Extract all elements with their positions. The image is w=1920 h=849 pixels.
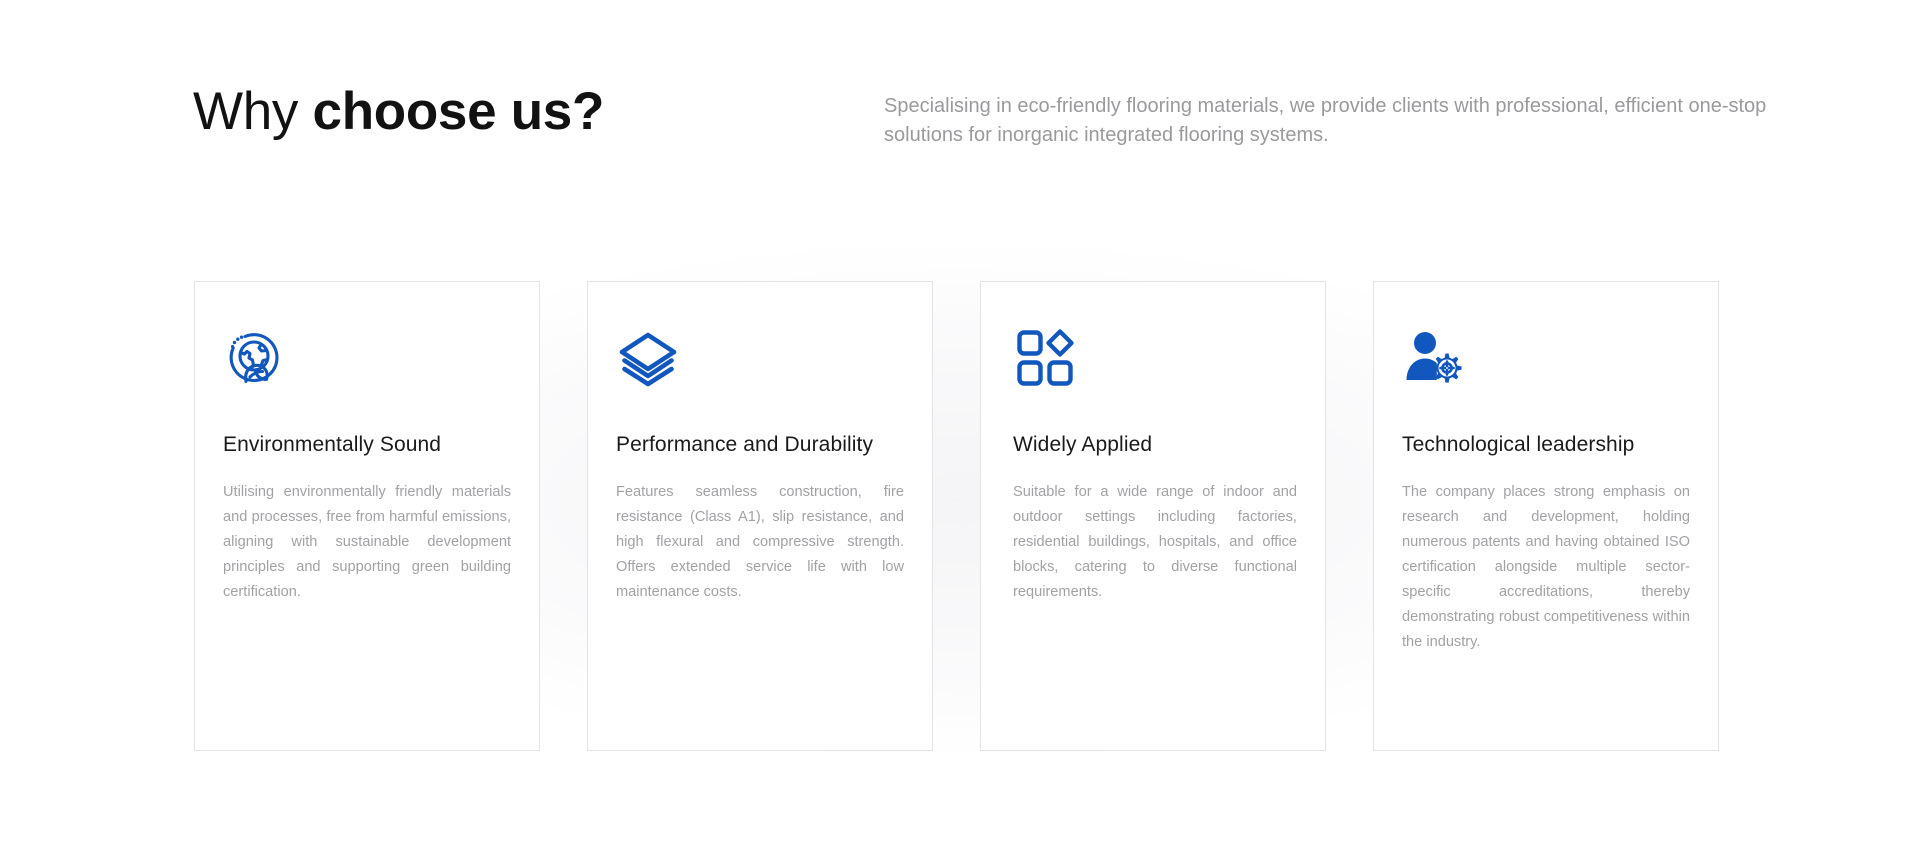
feature-card-list: Environmentally Sound Utilising environm… — [194, 281, 1726, 751]
section-header: Why choose us? Specialising in eco-frien… — [0, 0, 1920, 200]
globe-leaf-icon — [223, 326, 287, 390]
page-title-bold: choose us? — [313, 82, 605, 141]
feature-card[interactable]: Technological leadership The company pla… — [1373, 281, 1719, 751]
grid-apps-icon — [1013, 326, 1077, 390]
feature-card[interactable]: Widely Applied Suitable for a wide range… — [980, 281, 1326, 751]
feature-card[interactable]: Performance and Durability Features seam… — [587, 281, 933, 751]
feature-card-title: Widely Applied — [1013, 432, 1297, 458]
feature-card-body: The company places strong emphasis on re… — [1402, 480, 1690, 655]
feature-card[interactable]: Environmentally Sound Utilising environm… — [194, 281, 540, 751]
user-gear-icon — [1402, 326, 1466, 390]
feature-card-body: Utilising environmentally friendly mater… — [223, 480, 511, 605]
feature-card-body: Features seamless construction, fire res… — [616, 480, 904, 605]
feature-card-title: Performance and Durability — [616, 432, 904, 458]
page-root: Why choose us? Specialising in eco-frien… — [0, 0, 1920, 849]
layers-stack-icon — [616, 326, 680, 390]
feature-card-body: Suitable for a wide range of indoor and … — [1013, 480, 1297, 605]
feature-card-title: Environmentally Sound — [223, 432, 511, 458]
page-title-light: Why — [193, 82, 313, 141]
page-subtitle: Specialising in eco-friendly flooring ma… — [884, 92, 1796, 150]
feature-card-title: Technological leadership — [1402, 432, 1690, 458]
page-title: Why choose us? — [193, 80, 604, 144]
